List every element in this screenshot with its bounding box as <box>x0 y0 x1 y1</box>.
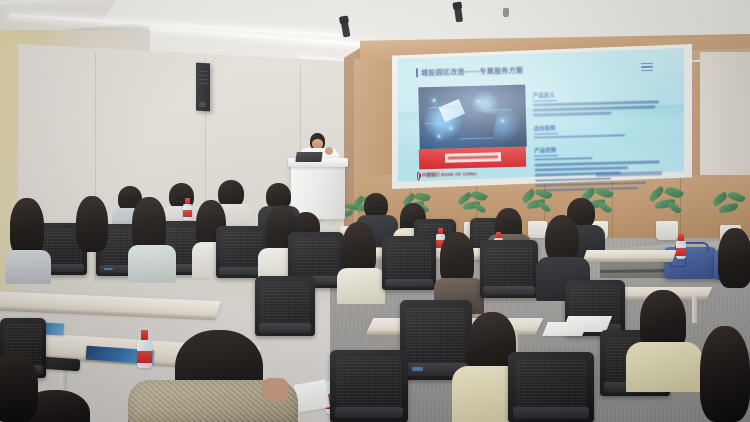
audience-head <box>76 196 108 252</box>
paper-handout <box>542 322 588 336</box>
office-chair <box>508 352 594 422</box>
slide-logo-text: 中国银行 BANK OF CHINA <box>422 171 477 178</box>
foreground-person-hand <box>262 378 288 402</box>
audience-torso <box>5 250 51 284</box>
eyeglasses-icon <box>366 205 388 212</box>
podium-laptop <box>295 152 322 162</box>
presenter-hand <box>325 147 333 155</box>
audience-torso <box>626 342 702 392</box>
water-bottle <box>137 330 152 368</box>
smartphone <box>42 357 81 372</box>
slide-section-heading: 产品优势 <box>534 143 660 156</box>
slide-bank-logo: 中国银行 BANK OF CHINA <box>417 169 477 181</box>
training-desk <box>583 250 676 259</box>
slide-title-text: 城投园区改造——专属服务方案 <box>421 65 523 78</box>
audience-head <box>718 228 750 288</box>
slide-text-panel: 产品定义 适用客群 产品优势 <box>533 88 662 194</box>
podium <box>291 161 345 219</box>
slide-title-bullet <box>416 68 418 77</box>
office-chair <box>382 236 436 290</box>
audience-torso <box>128 245 176 283</box>
audience-torso <box>337 268 385 304</box>
office-chair <box>330 350 408 422</box>
audience-head <box>700 326 750 422</box>
slide-section-heading: 适用客群 <box>534 121 660 134</box>
office-chair <box>255 276 315 336</box>
slide-image-caption-text <box>445 152 501 162</box>
slide-image-caption-bar <box>419 147 526 170</box>
paper-handout <box>294 379 330 412</box>
water-bottle <box>183 198 192 220</box>
hamburger-icon[interactable] <box>641 63 653 73</box>
potted-plant <box>648 188 684 240</box>
audience-head <box>10 198 44 256</box>
slide-section-heading: 产品定义 <box>533 88 659 101</box>
wall-speaker-icon <box>196 63 210 112</box>
slide-image <box>418 85 527 150</box>
bank-of-china-logo-icon <box>417 171 420 180</box>
water-bottle <box>676 234 686 259</box>
office-chair <box>480 240 538 298</box>
conference-room-photo: 城投园区改造——专属服务方案 产品定义 适用客群 产品优势 <box>0 0 750 422</box>
audience-head <box>0 352 38 422</box>
track-spotlight-icon <box>454 6 463 23</box>
ceiling-sensor-icon <box>503 8 509 17</box>
